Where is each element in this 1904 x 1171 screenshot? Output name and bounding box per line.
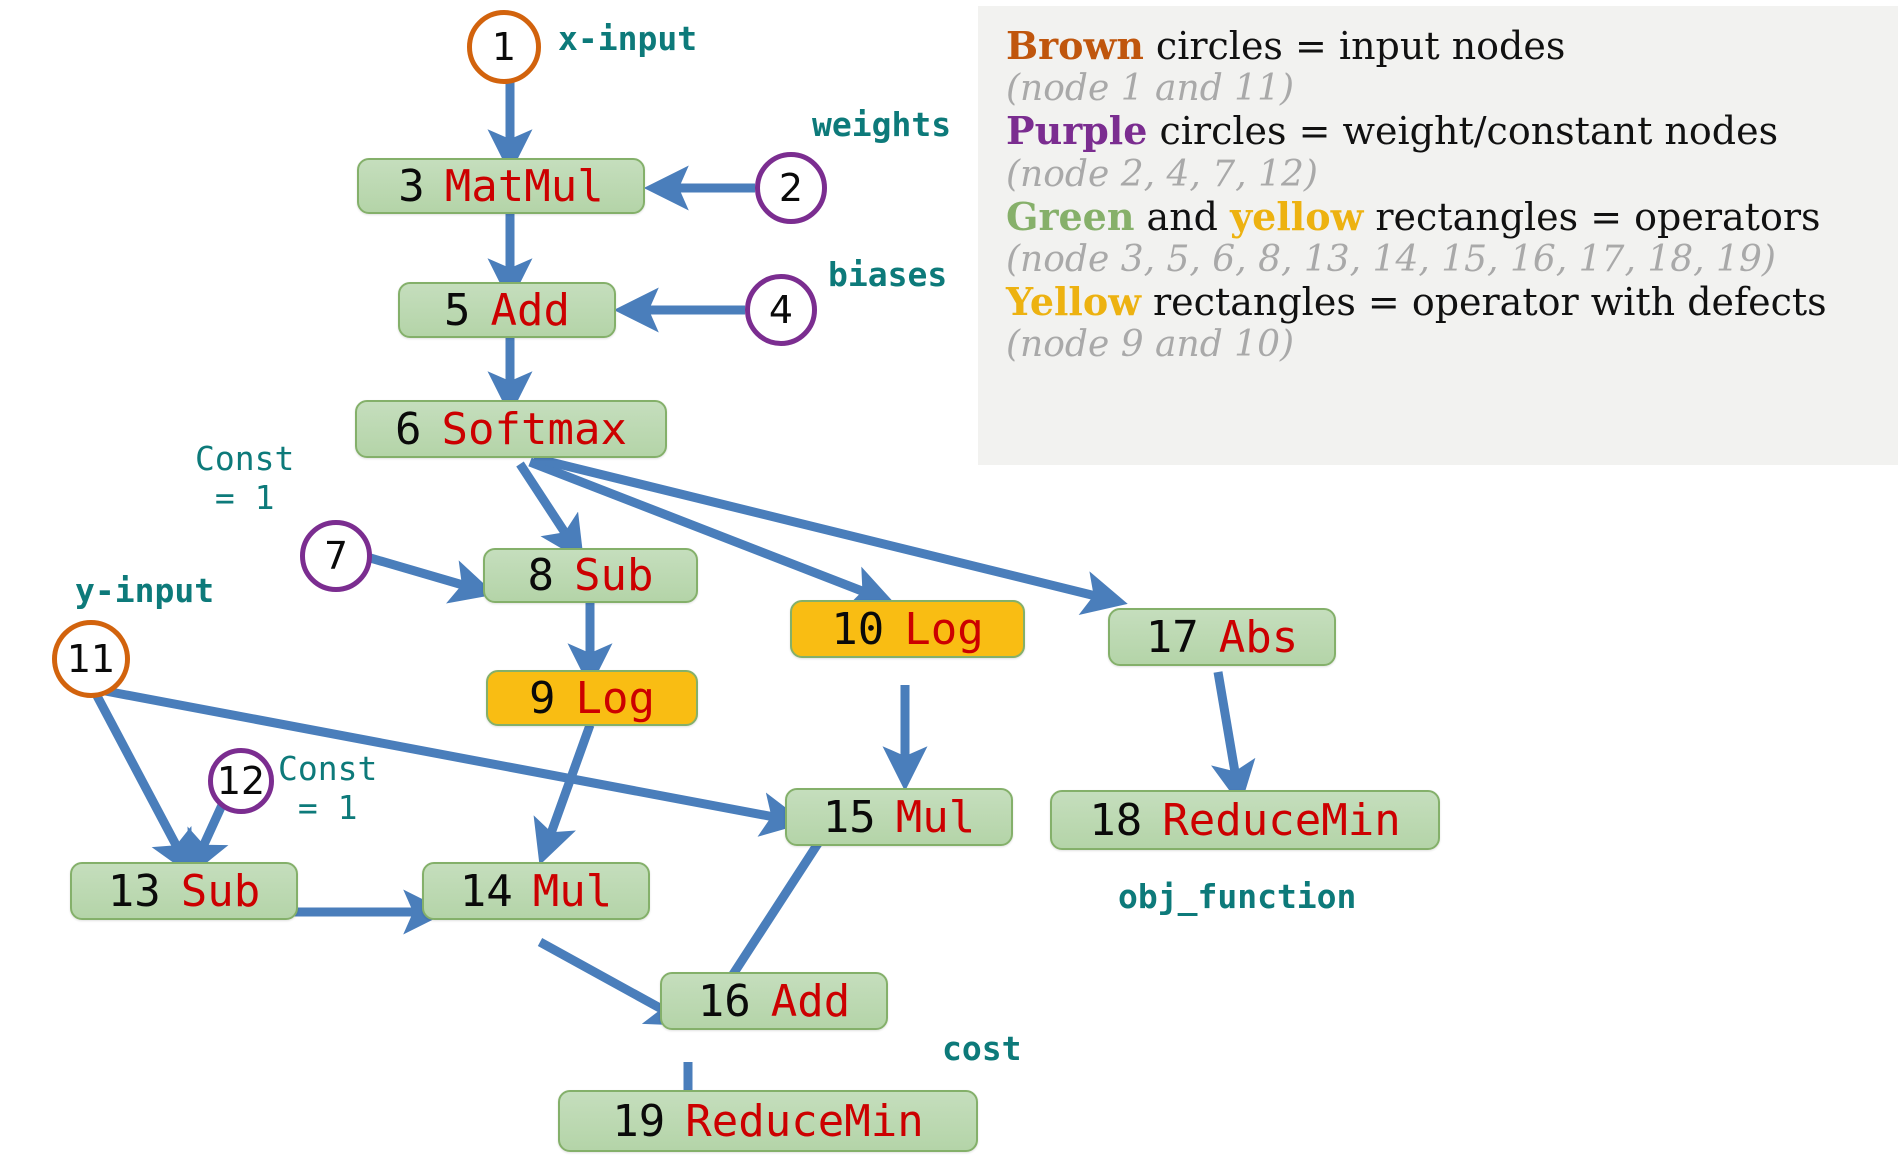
- op-node-8[interactable]: 8 Sub: [483, 548, 698, 603]
- legend-line-1: Brown circles = input nodes: [1006, 24, 1888, 68]
- tag-const-node-7: Const = 1: [195, 440, 294, 518]
- circle-node-12[interactable]: 12: [208, 748, 274, 814]
- op-node-18-label: ReduceMin: [1162, 795, 1400, 846]
- circle-node-2[interactable]: 2: [755, 152, 827, 224]
- op-node-16-number: 16: [698, 976, 751, 1027]
- edge-17-to-18: [1218, 672, 1238, 790]
- tag-obj-function: obj_function: [1118, 878, 1356, 917]
- op-node-14-number: 14: [460, 866, 513, 917]
- op-node-13[interactable]: 13 Sub: [70, 862, 298, 920]
- tag-const-node-12: Const = 1: [278, 750, 377, 828]
- legend-text-3a: and: [1134, 195, 1230, 239]
- op-node-8-label: Sub: [574, 550, 653, 601]
- op-node-16[interactable]: 16 Add: [660, 972, 888, 1030]
- legend-sub-4: (node 9 and 10): [1006, 324, 1888, 365]
- legend-line-2: Purple circles = weight/constant nodes: [1006, 109, 1888, 153]
- graph-canvas: 3 MatMul 5 Add 6 Softmax 8 Sub 9 Log 10 …: [0, 0, 1904, 1171]
- tag-y-input: y-input: [75, 572, 214, 611]
- legend-keyword-green: Green: [1006, 194, 1134, 239]
- edge-11-to-13: [96, 694, 185, 862]
- legend-panel: Brown circles = input nodes (node 1 and …: [978, 6, 1898, 465]
- op-node-17-number: 17: [1146, 612, 1199, 663]
- circle-node-4-number: 4: [769, 288, 793, 332]
- op-node-16-label: Add: [771, 976, 850, 1027]
- op-node-9-label: Log: [576, 673, 655, 724]
- circle-node-4[interactable]: 4: [745, 274, 817, 346]
- legend-keyword-yellow-inline: yellow: [1230, 194, 1363, 239]
- legend-keyword-yellow: Yellow: [1006, 279, 1141, 324]
- op-node-3-label: MatMul: [445, 161, 604, 212]
- legend-sub-3: (node 3, 5, 6, 8, 13, 14, 15, 16, 17, 18…: [1006, 239, 1888, 280]
- op-node-8-number: 8: [528, 550, 555, 601]
- edge-6-to-8: [520, 464, 575, 548]
- circle-node-12-number: 12: [217, 759, 265, 803]
- op-node-15[interactable]: 15 Mul: [785, 788, 1013, 846]
- op-node-13-number: 13: [108, 866, 161, 917]
- op-node-13-label: Sub: [181, 866, 260, 917]
- tag-x-input: x-input: [558, 20, 697, 59]
- legend-text-4: rectangles = operator with defects: [1141, 280, 1827, 324]
- edge-14-to-16: [540, 942, 678, 1018]
- circle-node-1[interactable]: 1: [467, 10, 541, 84]
- legend-keyword-brown: Brown: [1006, 23, 1144, 68]
- op-node-9-number: 9: [529, 673, 556, 724]
- legend-line-3: Green and yellow rectangles = operators: [1006, 195, 1888, 239]
- tag-cost: cost: [942, 1030, 1021, 1069]
- legend-sub-1: (node 1 and 11): [1006, 68, 1888, 109]
- op-node-14-label: Mul: [533, 866, 612, 917]
- legend-text-2: circles = weight/constant nodes: [1147, 109, 1778, 153]
- op-node-5-number: 5: [444, 285, 471, 336]
- op-node-17[interactable]: 17 Abs: [1108, 608, 1336, 666]
- op-node-15-label: Mul: [896, 792, 975, 843]
- circle-node-11[interactable]: 11: [52, 620, 130, 698]
- op-node-15-number: 15: [823, 792, 876, 843]
- legend-keyword-purple: Purple: [1006, 108, 1147, 153]
- op-node-6-label: Softmax: [442, 404, 627, 455]
- op-node-19-number: 19: [612, 1096, 665, 1147]
- op-node-10-label: Log: [904, 604, 983, 655]
- tag-biases: biases: [828, 256, 947, 295]
- circle-node-2-number: 2: [779, 166, 803, 210]
- op-node-10-number: 10: [831, 604, 884, 655]
- op-node-6-number: 6: [395, 404, 422, 455]
- legend-text-1: circles = input nodes: [1144, 24, 1566, 68]
- op-node-19[interactable]: 19 ReduceMin: [558, 1090, 978, 1152]
- op-node-3[interactable]: 3 MatMul: [357, 158, 645, 214]
- op-node-10[interactable]: 10 Log: [790, 600, 1025, 658]
- op-node-17-label: Abs: [1219, 612, 1298, 663]
- circle-node-11-number: 11: [67, 637, 115, 681]
- op-node-9[interactable]: 9 Log: [486, 670, 698, 726]
- op-node-3-number: 3: [398, 161, 425, 212]
- op-node-18-number: 18: [1089, 795, 1142, 846]
- tag-weights: weights: [812, 106, 951, 145]
- legend-line-4: Yellow rectangles = operator with defect…: [1006, 280, 1888, 324]
- op-node-19-label: ReduceMin: [685, 1096, 923, 1147]
- circle-node-7-number: 7: [324, 534, 348, 578]
- legend-text-3b: rectangles = operators: [1363, 195, 1820, 239]
- edge-9-to-14: [545, 725, 590, 850]
- circle-node-7[interactable]: 7: [300, 520, 372, 592]
- op-node-14[interactable]: 14 Mul: [422, 862, 650, 920]
- op-node-5[interactable]: 5 Add: [398, 282, 616, 338]
- op-node-5-label: Add: [491, 285, 570, 336]
- circle-node-1-number: 1: [492, 25, 516, 69]
- legend-sub-2: (node 2, 4, 7, 12): [1006, 154, 1888, 195]
- op-node-18[interactable]: 18 ReduceMin: [1050, 790, 1440, 850]
- op-node-6[interactable]: 6 Softmax: [355, 400, 667, 458]
- edge-7-to-8: [367, 557, 480, 590]
